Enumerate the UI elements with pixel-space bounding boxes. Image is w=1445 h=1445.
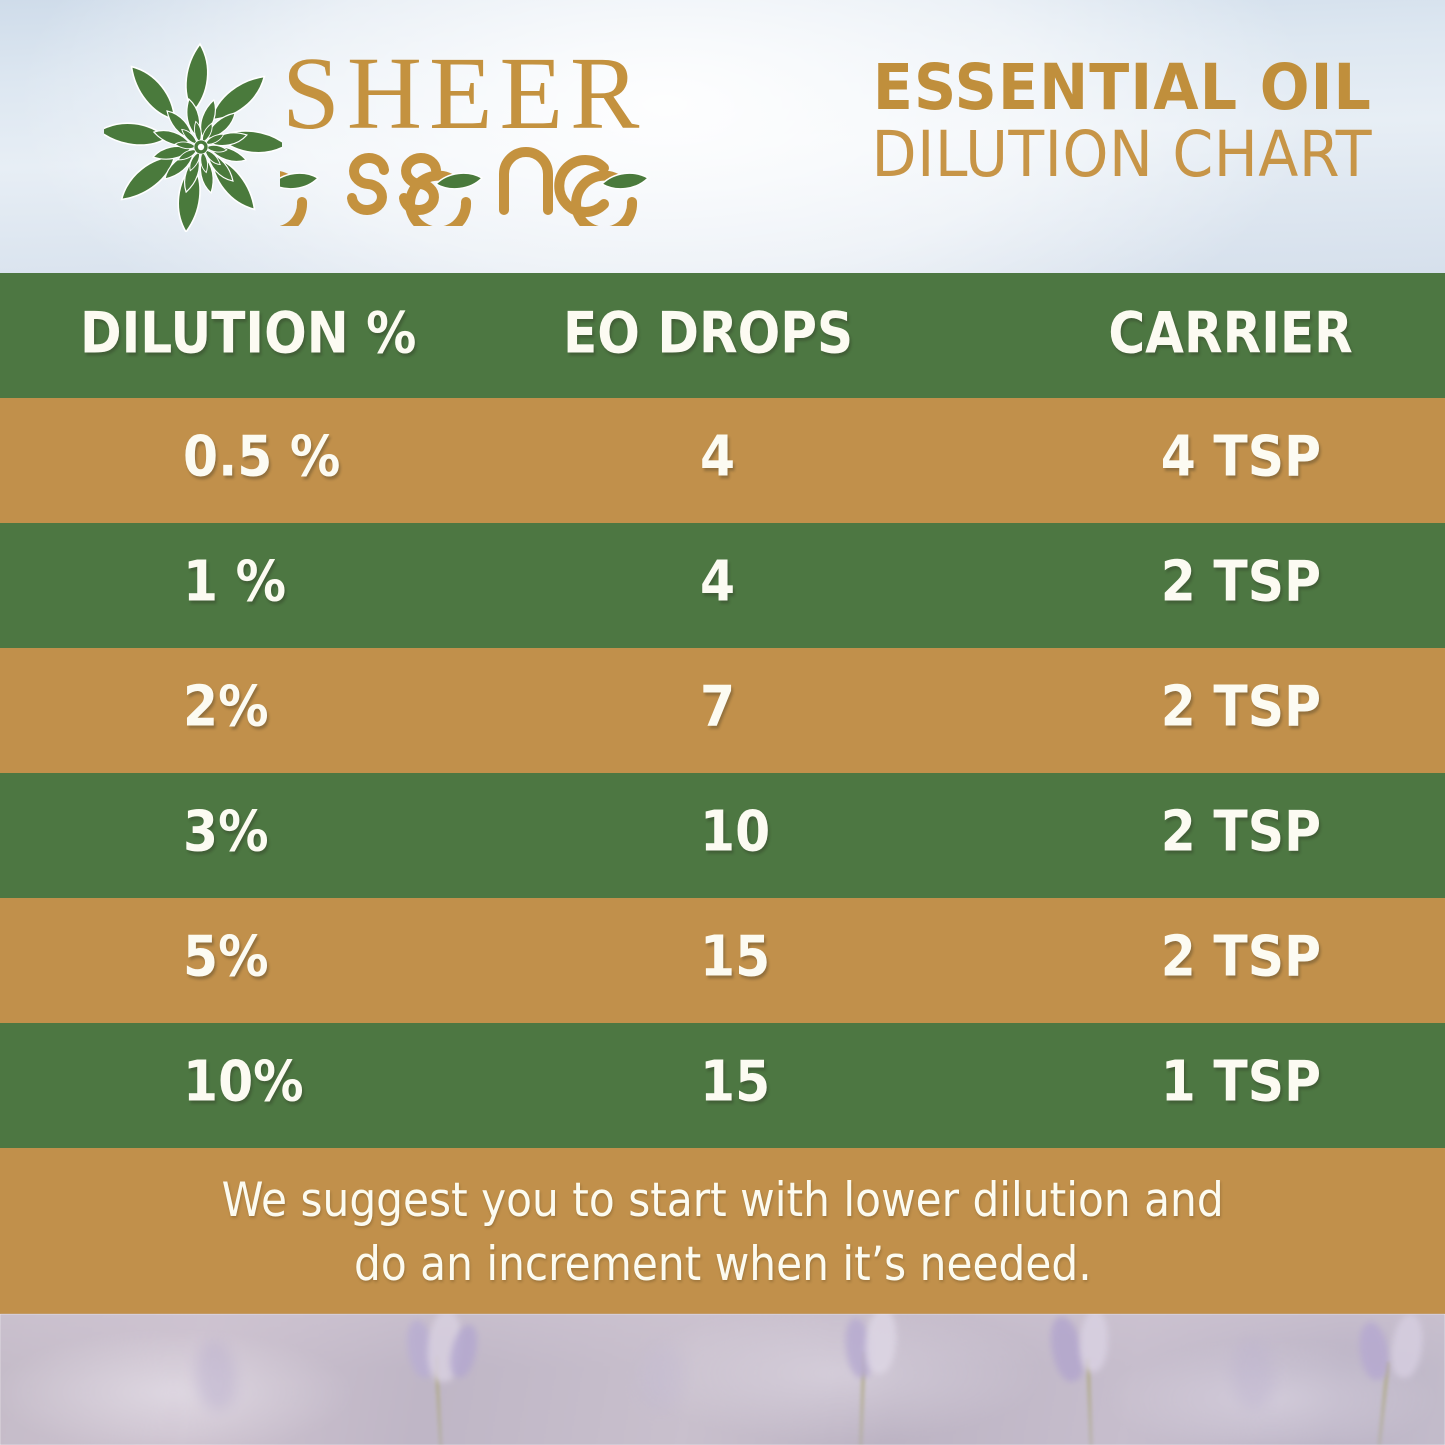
column-header-dilution: DILUTION %: [80, 300, 416, 366]
dilution-table: DILUTION % EO DROPS CARRIER 0.5 % 4 4 TS…: [0, 273, 1445, 1148]
cell-drops: 4: [700, 549, 735, 614]
footer-note: We suggest you to start with lower dilut…: [0, 1148, 1445, 1314]
table-row: 3% 10 2 TSP: [0, 773, 1445, 898]
cell-drops: 4: [700, 424, 735, 489]
cell-dilution: 5%: [183, 924, 269, 989]
cell-carrier: 2 TSP: [1161, 799, 1321, 864]
column-header-carrier: CARRIER: [1109, 300, 1353, 366]
infographic-page: SHEER: [0, 0, 1445, 1445]
footer-note-line-1: We suggest you to start with lower dilut…: [221, 1169, 1223, 1233]
cell-drops: 7: [700, 674, 735, 739]
cell-dilution: 10%: [183, 1049, 304, 1114]
brand-wordmark: SHEER: [274, 42, 704, 242]
table-header-row: DILUTION % EO DROPS CARRIER: [0, 273, 1445, 398]
title-line-1: ESSENTIAL OIL: [851, 56, 1372, 120]
header-banner: SHEER: [0, 0, 1445, 273]
cell-drops: 15: [700, 1049, 770, 1114]
column-header-drops: EO DROPS: [563, 300, 853, 366]
cell-carrier: 4 TSP: [1161, 424, 1321, 489]
lavender-field-photo: [0, 1314, 1445, 1445]
cell-dilution: 2%: [183, 674, 269, 739]
table-row: 10% 15 1 TSP: [0, 1023, 1445, 1148]
brand-name-bottom: [280, 130, 680, 226]
cell-carrier: 1 TSP: [1161, 1049, 1321, 1114]
cell-carrier: 2 TSP: [1161, 674, 1321, 739]
brand-logo: SHEER: [104, 34, 704, 239]
cell-carrier: 2 TSP: [1161, 924, 1321, 989]
chart-title: ESSENTIAL OIL DILUTION CHART: [812, 56, 1372, 189]
table-row: 0.5 % 4 4 TSP: [0, 398, 1445, 523]
cell-carrier: 2 TSP: [1161, 549, 1321, 614]
table-row: 2% 7 2 TSP: [0, 648, 1445, 773]
cell-dilution: 1 %: [183, 549, 286, 614]
table-row: 1 % 4 2 TSP: [0, 523, 1445, 648]
table-row: 5% 15 2 TSP: [0, 898, 1445, 1023]
cell-dilution: 3%: [183, 799, 269, 864]
title-line-2: DILUTION CHART: [851, 122, 1372, 189]
cell-drops: 15: [700, 924, 770, 989]
leaf-mandala-icon: [104, 42, 282, 232]
footer-note-line-2: do an increment when it’s needed.: [354, 1233, 1092, 1297]
cell-dilution: 0.5 %: [183, 424, 340, 489]
cell-drops: 10: [700, 799, 770, 864]
